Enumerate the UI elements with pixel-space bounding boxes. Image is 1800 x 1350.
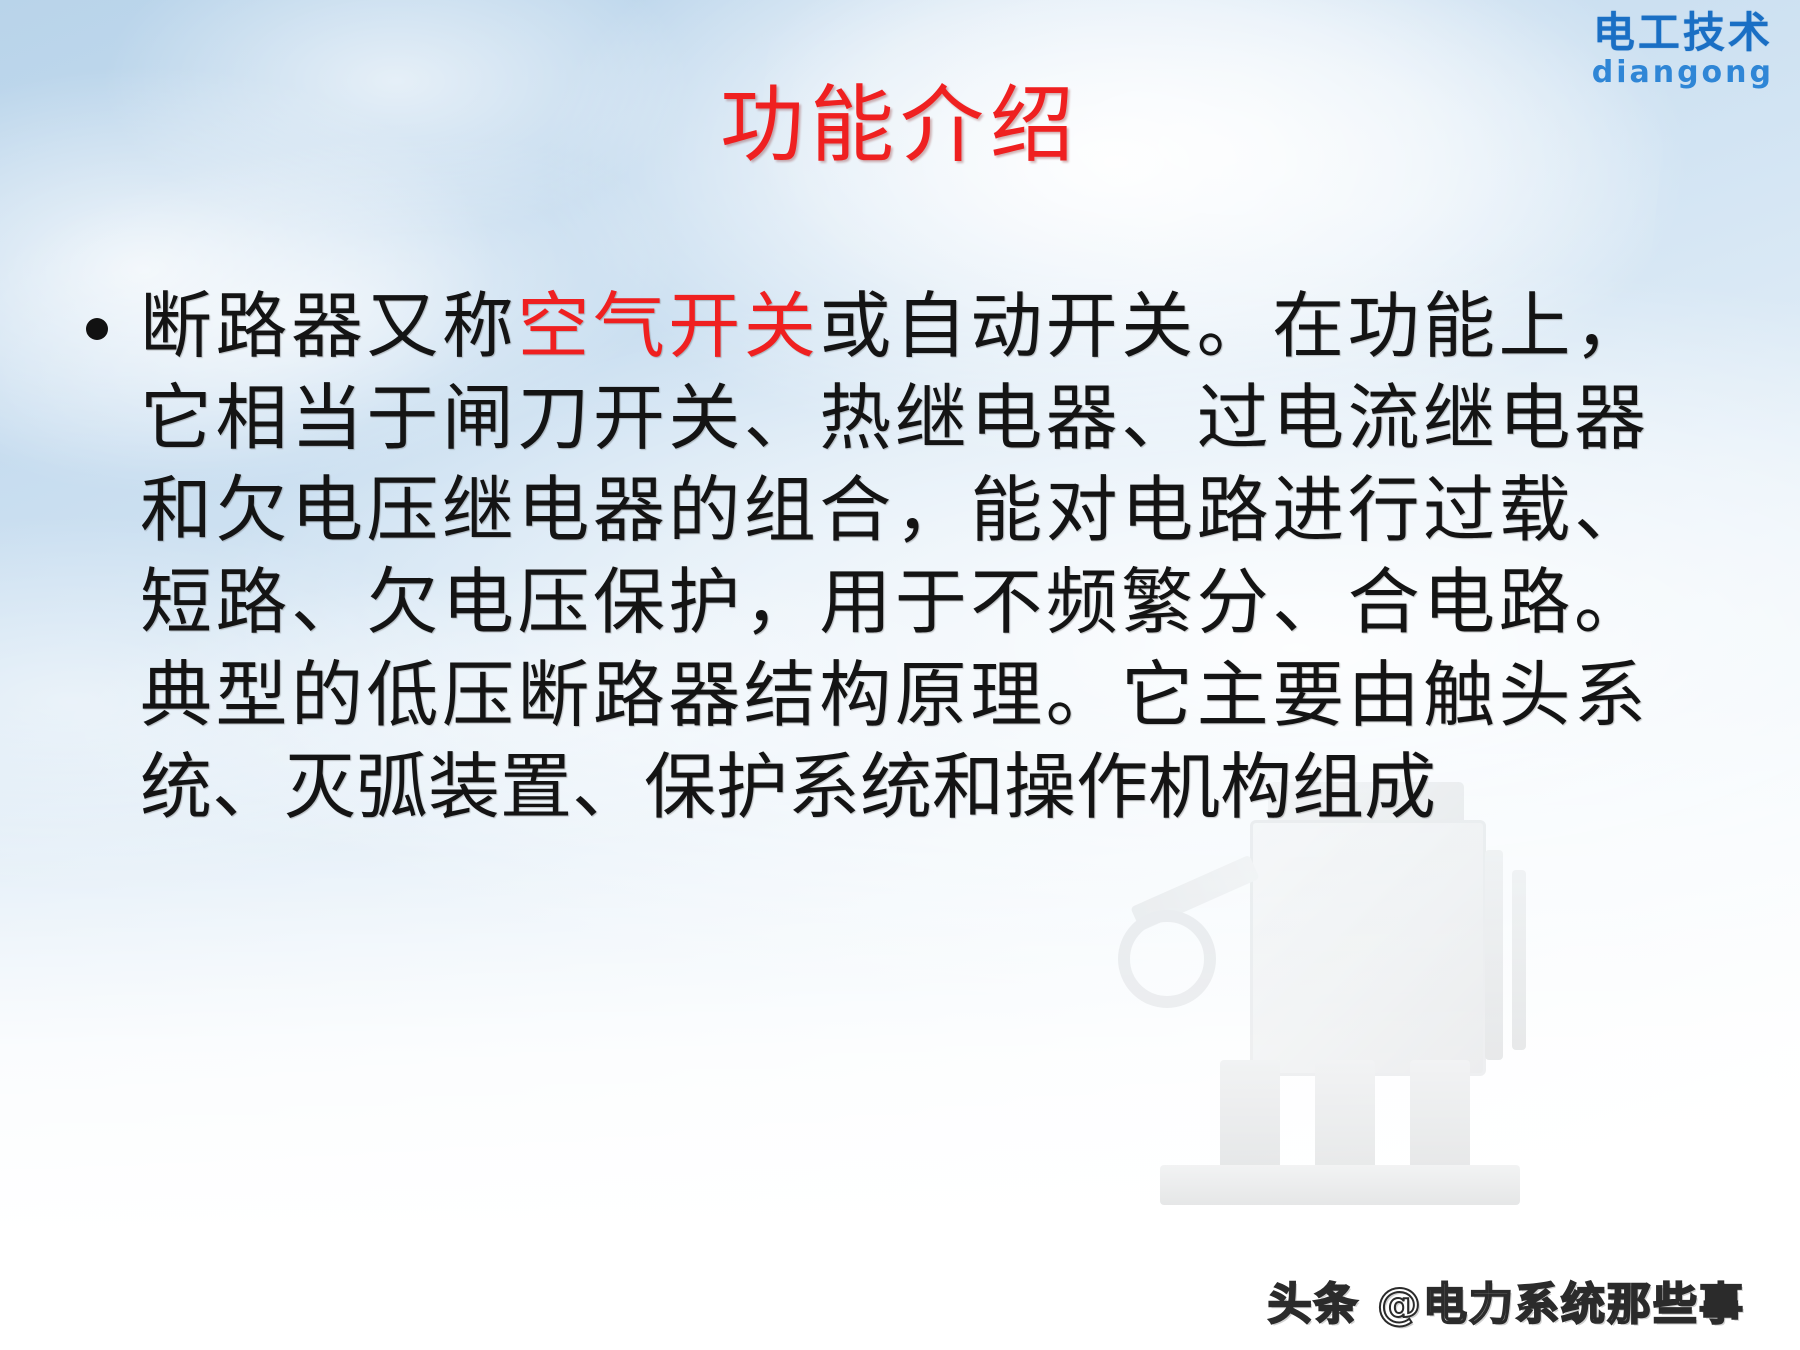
photo-part-terminal-1 [1220,1060,1280,1170]
photo-part-rod-2 [1512,870,1526,1050]
photo-part-body [1250,820,1486,1076]
photo-part-operating-arm [1130,855,1259,932]
photo-part-base [1160,1165,1520,1205]
photo-part-terminal-2 [1315,1060,1375,1190]
bullet-text-content: 断路器又称空气开关或自动开关。在功能上，它相当于闸刀开关、热继电器、过电流继电器… [140,280,1646,833]
body-segment-1: 断路器又称 [140,284,517,368]
bullet-point-icon [86,318,108,340]
brand-logo-chinese: 电工技术 [1592,12,1774,54]
slide-title: 功能介绍 [0,58,1800,179]
bullet-paragraph: 断路器又称空气开关或自动开关。在功能上，它相当于闸刀开关、热继电器、过电流继电器… [86,280,1646,833]
photo-part-terminal-3 [1410,1060,1470,1175]
body-segment-highlight: 空气开关 [517,284,819,368]
photo-part-knob [1118,910,1216,1008]
watermark-text: 头条 @电力系统那些事 [1268,1268,1745,1332]
presentation-slide: 电工技术 diangong 功能介绍 断路器又称空气开关或自动开关。在功能上，它… [0,0,1800,1350]
photo-part-rod-1 [1485,850,1503,1060]
